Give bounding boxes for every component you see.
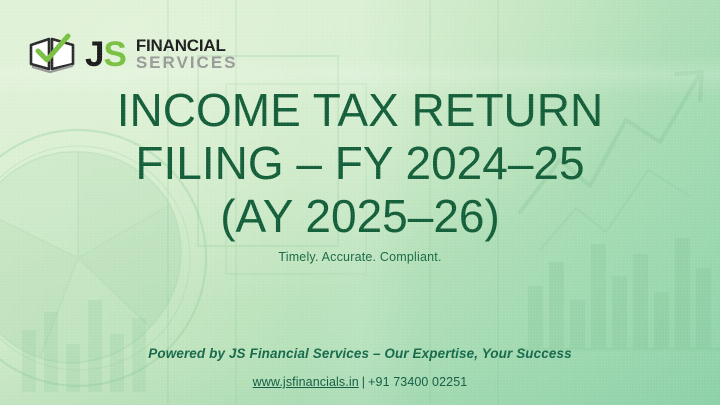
page-title-line-1: INCOME TAX RETURN [0, 84, 720, 137]
footer-powered-by: Powered by JS Financial Services – Our E… [0, 346, 720, 361]
website-link[interactable]: www.jsfinancials.in [253, 375, 359, 389]
logo-monogram: JS [85, 37, 126, 72]
logo-letter-s: S [103, 37, 125, 72]
book-check-icon [28, 33, 76, 75]
footer-separator: | [359, 375, 368, 389]
logo-wordmark: FINANCIAL SERVICES [136, 37, 238, 71]
tagline: Timely. Accurate. Compliant. [0, 250, 720, 264]
logo-letter-j: J [85, 37, 103, 72]
footer-contact: www.jsfinancials.in|+91 73400 02251 [0, 375, 720, 389]
title-block: INCOME TAX RETURN FILING – FY 2024–25 (A… [0, 84, 720, 264]
slide-canvas: JS FINANCIAL SERVICES INCOME TAX RETURN … [0, 0, 720, 405]
footer: Powered by JS Financial Services – Our E… [0, 346, 720, 389]
logo-word-financial: FINANCIAL [136, 37, 238, 54]
logo-word-services: SERVICES [136, 54, 238, 71]
page-title-line-2: FILING – FY 2024–25 [0, 137, 720, 190]
page-title-line-3: (AY 2025–26) [0, 190, 720, 243]
phone-number[interactable]: +91 73400 02251 [368, 375, 467, 389]
brand-logo: JS FINANCIAL SERVICES [28, 30, 238, 78]
